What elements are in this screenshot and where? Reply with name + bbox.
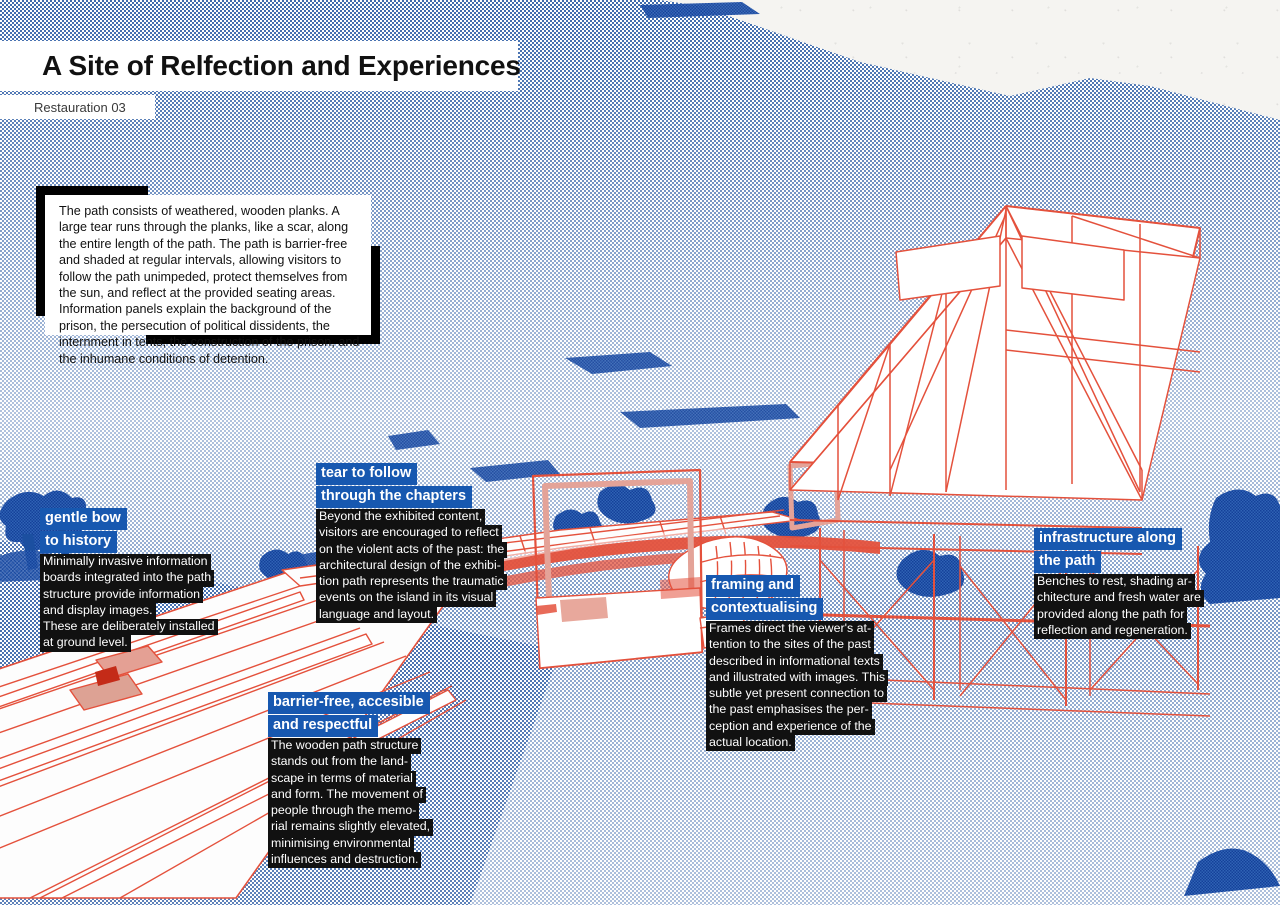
- callout-heading-line: framing and: [706, 575, 800, 597]
- callout-body-line: Beyond the exhibited content,: [316, 509, 485, 525]
- callout-body-line: described in informational texts: [706, 654, 883, 670]
- callout-body-line: architectural design of the exhibi-: [316, 558, 504, 574]
- callout-body-line: and display images.: [40, 603, 156, 619]
- callout-heading-line: infrastructure along: [1034, 528, 1182, 550]
- callout-heading: framing and contextualising: [706, 575, 888, 620]
- architecture-linework: [0, 0, 1280, 905]
- callout-body-line: language and layout.: [316, 607, 437, 623]
- callout-body-line: influences and destruction.: [268, 852, 421, 868]
- callout-heading: infrastructure along the path: [1034, 528, 1204, 573]
- page-subtitle-bar: Restauration 03: [0, 95, 155, 119]
- callout-body-line: events on the island in its visual: [316, 590, 496, 606]
- intro-card-surface: The path consists of weathered, wooden p…: [45, 195, 371, 335]
- callout-barrier-free-accesible-and-respectful: barrier-free, accesible and respectful T…: [268, 692, 433, 868]
- callout-body-line: reflection and regeneration.: [1034, 623, 1191, 639]
- callout-heading-line: to history: [40, 531, 117, 553]
- callout-body-line: These are deliberately installed: [40, 619, 218, 635]
- callout-gentle-bow-to-history: gentle bow to history Minimally invasive…: [40, 508, 218, 652]
- callout-body-line: boards integrated into the path: [40, 570, 214, 586]
- callout-body-line: minimising environmental: [268, 836, 414, 852]
- callout-body-line: provided along the path for: [1034, 607, 1187, 623]
- callout-heading-line: gentle bow: [40, 508, 127, 530]
- callout-body-line: The wooden path structure: [268, 738, 421, 754]
- callout-body-line: chitecture and fresh water are: [1034, 590, 1204, 606]
- callout-body-line: structure provide information: [40, 587, 203, 603]
- intro-paragraph: The path consists of weathered, wooden p…: [59, 203, 361, 367]
- page-title-bar: A Site of Relfection and Experiences: [0, 41, 518, 91]
- intro-shadow-top: [36, 186, 148, 195]
- callout-heading-line: through the chapters: [316, 486, 472, 508]
- callout-heading: barrier-free, accesible and respectful: [268, 692, 433, 737]
- callout-body: Minimally invasive information boards in…: [40, 554, 218, 652]
- page-subtitle: Restauration 03: [34, 100, 126, 115]
- callout-body-line: and illustrated with images. This: [706, 670, 888, 686]
- callout-body: Beyond the exhibited content, visitors a…: [316, 509, 507, 623]
- callout-body-line: at ground level.: [40, 635, 131, 651]
- page-title: A Site of Relfection and Experiences: [42, 50, 521, 82]
- callout-heading-line: tear to follow: [316, 463, 417, 485]
- callout-body-line: subtle yet present connection to: [706, 686, 887, 702]
- callout-body-line: Benches to rest, shading ar-: [1034, 574, 1195, 590]
- callout-body: The wooden path structure stands out fro…: [268, 738, 433, 868]
- poster-canvas: A Site of Relfection and Experiences Res…: [0, 0, 1280, 905]
- callout-body-line: scape in terms of material: [268, 771, 416, 787]
- callout-body-line: ception and experience of the: [706, 719, 875, 735]
- callout-heading-line: contextualising: [706, 598, 823, 620]
- callout-body: Frames direct the viewer's at- tention t…: [706, 621, 888, 751]
- callout-body-line: tion path represents the traumatic: [316, 574, 507, 590]
- callout-body-line: the past emphasises the per-: [706, 702, 872, 718]
- callout-body-line: visitors are encouraged to reflect: [316, 525, 502, 541]
- callout-heading-line: and respectful: [268, 715, 378, 737]
- callout-heading: tear to follow through the chapters: [316, 463, 507, 508]
- intro-text-card: The path consists of weathered, wooden p…: [36, 186, 480, 344]
- callout-body-line: stands out from the land-: [268, 754, 411, 770]
- callout-body-line: tention to the sites of the past: [706, 637, 874, 653]
- callout-body-line: and form. The movement of: [268, 787, 426, 803]
- callout-body: Benches to rest, shading ar- chitecture …: [1034, 574, 1204, 639]
- callout-body-line: Minimally invasive information: [40, 554, 211, 570]
- callout-tear-to-follow-through-the-chapters: tear to follow through the chapters Beyo…: [316, 463, 507, 623]
- callout-body-line: Frames direct the viewer's at-: [706, 621, 874, 637]
- callout-body-line: people through the memo-: [268, 803, 419, 819]
- callout-body-line: actual location.: [706, 735, 795, 751]
- callout-body-line: on the violent acts of the past: the: [316, 542, 507, 558]
- intro-shadow-right: [371, 246, 380, 344]
- callout-body-line: rial remains slightly elevated,: [268, 819, 433, 835]
- callout-heading-line: barrier-free, accesible: [268, 692, 430, 714]
- callout-framing-and-contextualising: framing and contextualising Frames direc…: [706, 575, 888, 751]
- callout-heading: gentle bow to history: [40, 508, 218, 553]
- intro-shadow-left: [36, 186, 45, 316]
- callout-infrastructure-along-the-path: infrastructure along the path Benches to…: [1034, 528, 1204, 639]
- callout-heading-line: the path: [1034, 551, 1101, 573]
